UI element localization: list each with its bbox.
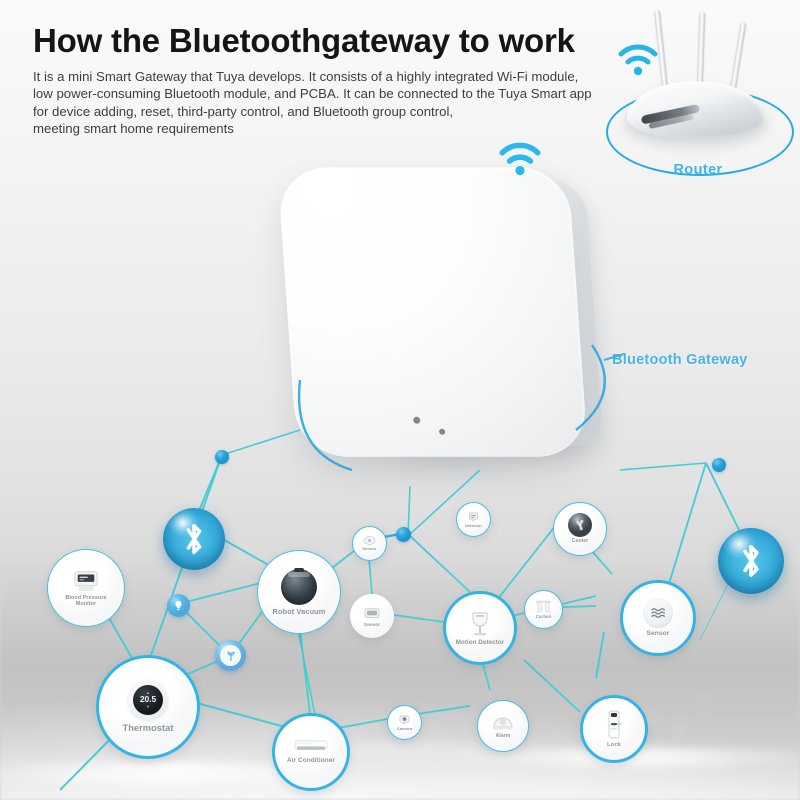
device-label: Camera bbox=[397, 727, 412, 731]
curtain-icon bbox=[535, 600, 552, 614]
device-node-curtain[interactable]: Curtain bbox=[524, 590, 563, 629]
gas-detector-icon bbox=[467, 511, 480, 523]
device-label: Sensor bbox=[364, 623, 380, 628]
device-label: Detector bbox=[465, 524, 482, 528]
micro-node-bulb[interactable] bbox=[167, 594, 190, 617]
air-conditioner-icon bbox=[294, 739, 328, 755]
device-label: Alarm bbox=[496, 734, 511, 739]
device-label: Thermostat bbox=[122, 724, 173, 734]
bluetooth-logo-icon bbox=[718, 528, 784, 594]
device-label: Lock bbox=[607, 742, 621, 748]
device-node-smoke-detector[interactable]: Sensor bbox=[352, 526, 387, 561]
alarm-icon bbox=[492, 712, 514, 732]
device-node-sensor-small[interactable]: Sensor bbox=[350, 594, 394, 638]
thermostat-icon: ▲ 20.5 ▼ bbox=[128, 680, 168, 720]
camera-icon bbox=[398, 714, 411, 726]
device-node-camera[interactable]: Camera bbox=[387, 705, 422, 740]
device-node-motion-detector[interactable]: Motion Detector bbox=[443, 591, 517, 665]
device-label: Cooler bbox=[572, 539, 588, 544]
link-node-dot bbox=[396, 527, 411, 542]
device-node-air-conditioner[interactable]: Air Conditioner bbox=[272, 713, 350, 791]
device-node-robot-vacuum[interactable]: Robot Vacuum bbox=[257, 550, 341, 634]
robot-vacuum-icon bbox=[281, 569, 317, 605]
device-label: Sensor bbox=[647, 630, 670, 637]
device-node-gas-detector[interactable]: Detector bbox=[456, 502, 491, 537]
infographic-canvas: How the Bluetoothgateway to work It is a… bbox=[0, 0, 800, 800]
cooler-fan-icon bbox=[568, 513, 592, 537]
device-node-water-sensor[interactable]: Sensor bbox=[620, 580, 696, 656]
blood-pressure-monitor-icon bbox=[72, 569, 100, 593]
device-node-cooler[interactable]: Cooler bbox=[553, 502, 607, 556]
smoke-detector-icon bbox=[363, 535, 376, 546]
device-label: Air Conditioner bbox=[287, 758, 335, 765]
device-node-lock[interactable]: Lock bbox=[580, 695, 648, 763]
link-node-dot bbox=[712, 458, 726, 472]
device-node-blood-pressure-monitor[interactable]: Blood Pressure Monitor bbox=[47, 549, 125, 627]
sensor-icon bbox=[363, 605, 381, 621]
bluetooth-logo-icon bbox=[163, 508, 225, 570]
device-label: Sensor bbox=[362, 547, 376, 551]
lock-icon bbox=[606, 710, 622, 740]
device-node-alarm[interactable]: Alarm bbox=[477, 700, 529, 752]
water-sensor-icon bbox=[643, 598, 673, 628]
device-label: Blood Pressure Monitor bbox=[65, 596, 106, 608]
device-label: Motion Detector bbox=[456, 640, 505, 647]
device-label: Robot Vacuum bbox=[273, 608, 326, 616]
device-label: Curtain bbox=[536, 615, 551, 620]
motion-detector-icon bbox=[467, 610, 493, 638]
micro-node-plant[interactable] bbox=[215, 640, 246, 671]
device-node-thermostat[interactable]: ▲ 20.5 ▼ Thermostat bbox=[96, 655, 200, 759]
link-node-dot bbox=[215, 450, 229, 464]
